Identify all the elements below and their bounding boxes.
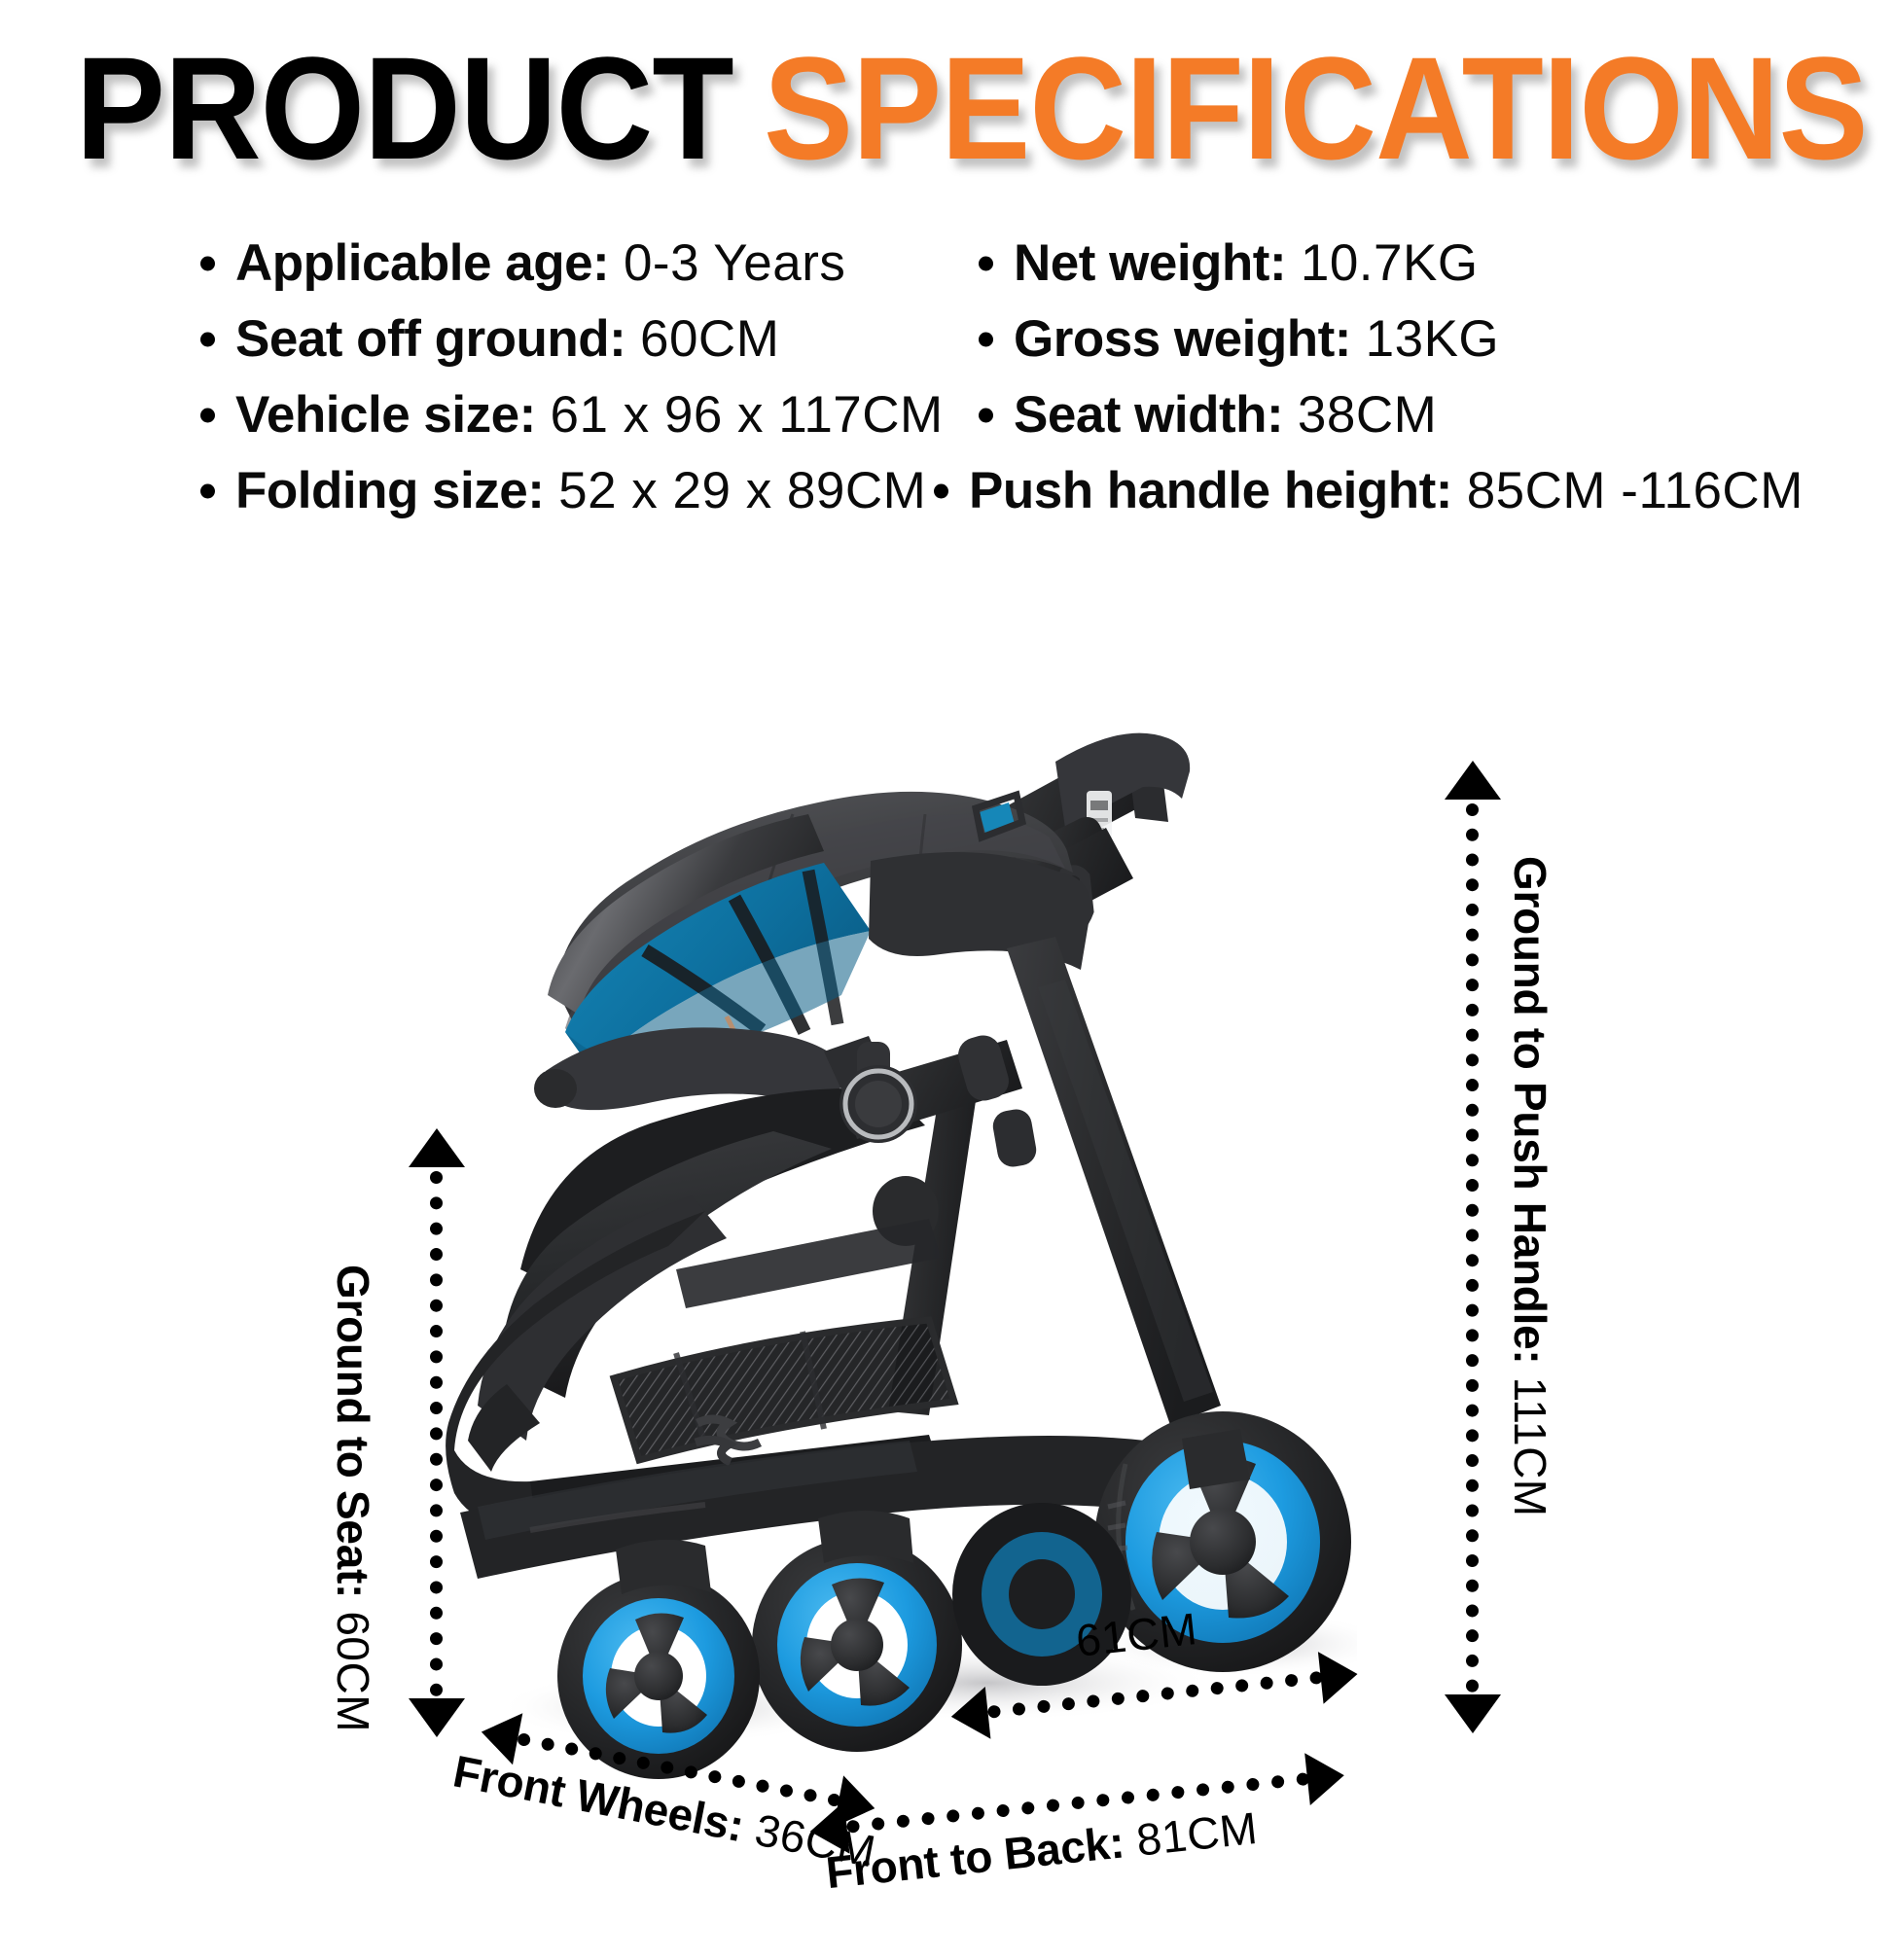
spec-item-push-handle-height: Push handle height: 85CM -116CM: [928, 453, 1848, 529]
bullet-icon: [979, 257, 993, 271]
spec-value: 52 x 29 x 89CM: [558, 462, 926, 519]
bullet-icon: [979, 333, 993, 347]
infographic-canvas: PRODUCTSPECIFICATIONS Applicable age: 0-…: [0, 0, 1893, 1893]
spec-value: 38CM: [1298, 386, 1437, 444]
spec-value: 60CM: [640, 310, 779, 368]
spec-label: Vehicle size:: [235, 386, 536, 444]
spec-value: 13KG: [1366, 310, 1500, 368]
title-word-specifications: SPECIFICATIONS: [764, 35, 1868, 181]
spec-item-seat-width: Seat width: 38CM: [973, 377, 1848, 453]
page-title: PRODUCTSPECIFICATIONS: [76, 35, 1817, 181]
bullet-icon: [200, 257, 215, 271]
title-word-product: PRODUCT: [76, 35, 733, 181]
dimension-line: [1466, 803, 1479, 1693]
spec-column-left: Applicable age: 0-3 Years Seat off groun…: [195, 226, 963, 529]
spec-item-seat-off-ground: Seat off ground: 60CM: [195, 302, 963, 377]
spec-label: Seat width:: [1014, 386, 1283, 444]
stroller-product-image: [384, 530, 1357, 1824]
dimension-label-text: Ground to Push Handle:: [1505, 856, 1555, 1364]
spec-label: Seat off ground:: [235, 310, 625, 368]
spec-item-gross-weight: Gross weight: 13KG: [973, 302, 1848, 377]
arrow-down-icon: [1445, 1694, 1501, 1733]
dimension-label: Ground to Seat: 60CM: [327, 1265, 379, 1732]
bullet-icon: [200, 484, 215, 499]
spec-value: 61 x 96 x 117CM: [550, 386, 943, 444]
spec-item-net-weight: Net weight: 10.7KG: [973, 226, 1848, 302]
spec-item-applicable-age: Applicable age: 0-3 Years: [195, 226, 963, 302]
spec-item-folding-size: Folding size: 52 x 29 x 89CM: [195, 453, 963, 529]
dimension-line: [430, 1171, 443, 1696]
spec-label: Folding size:: [235, 462, 544, 519]
spec-column-right: Net weight: 10.7KG Gross weight: 13KG Se…: [973, 226, 1848, 529]
dimension-label-value: 111CM: [1505, 1364, 1555, 1516]
bullet-icon: [934, 484, 948, 499]
specifications-list: Applicable age: 0-3 Years Seat off groun…: [0, 226, 1893, 517]
dimension-label: Ground to Push Handle: 111CM: [1504, 856, 1556, 1517]
bullet-icon: [200, 409, 215, 423]
arrow-left-icon: [948, 1687, 990, 1743]
arrow-right-icon: [1318, 1648, 1360, 1704]
spec-value: 0-3 Years: [624, 234, 845, 292]
spec-value: 10.7KG: [1301, 234, 1479, 292]
spec-label: Applicable age:: [235, 234, 609, 292]
bullet-icon: [200, 333, 215, 347]
dimension-label-value: 81CM: [1122, 1802, 1261, 1867]
arrow-up-icon: [409, 1128, 465, 1167]
bullet-icon: [979, 409, 993, 423]
dimension-label-value: 60CM: [328, 1598, 378, 1732]
spec-label: Net weight:: [1014, 234, 1286, 292]
spec-label: Push handle height:: [969, 462, 1452, 519]
spec-value: 85CM -116CM: [1467, 462, 1804, 519]
spec-label: Gross weight:: [1014, 310, 1351, 368]
spec-item-vehicle-size: Vehicle size: 61 x 96 x 117CM: [195, 377, 963, 453]
arrow-up-icon: [1445, 761, 1501, 800]
dimension-label-text: Ground to Seat:: [328, 1265, 378, 1598]
dimension-label-text: Front Wheels:: [449, 1745, 748, 1851]
arrow-down-icon: [409, 1698, 465, 1737]
